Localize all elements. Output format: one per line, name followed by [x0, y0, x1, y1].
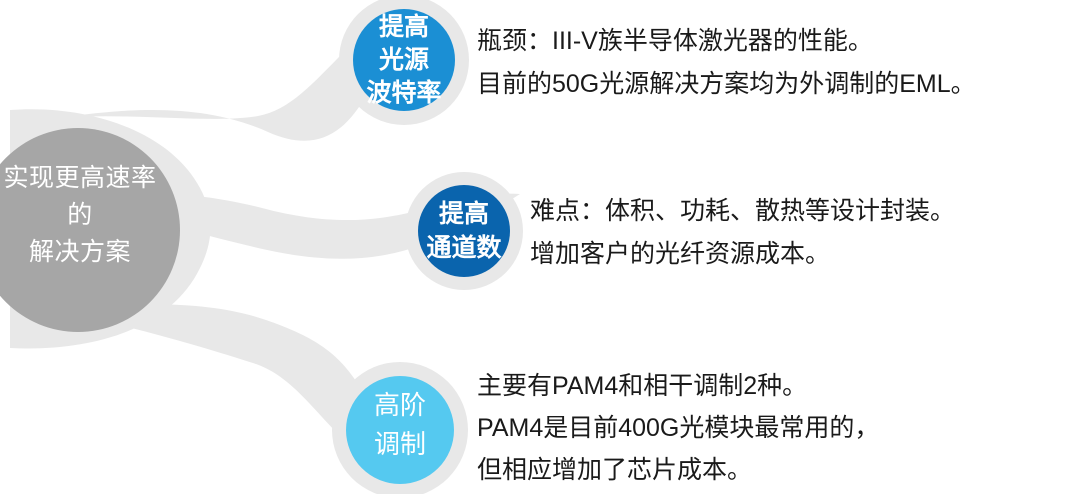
description-branch-2: 难点：体积、功耗、散热等设计封装。 增加客户的光纤资源成本。 [530, 190, 1050, 276]
description-branch-1: 瓶颈：III-V族半导体激光器的性能。 目前的50G光源解决方案均为外调制的EM… [477, 20, 1037, 106]
node-circle-1[interactable] [353, 9, 455, 111]
description-branch-3: 主要有PAM4和相干调制2种。 PAM4是目前400G光模块最常用的， 但相应增… [477, 365, 1037, 491]
node-circle-3[interactable] [346, 376, 454, 484]
diagram-canvas: 实现更高速率 的 解决方案 提高 光源 波特率 提高 通道数 高阶 调制 瓶颈：… [0, 0, 1080, 494]
node-circle-2[interactable] [418, 185, 510, 277]
